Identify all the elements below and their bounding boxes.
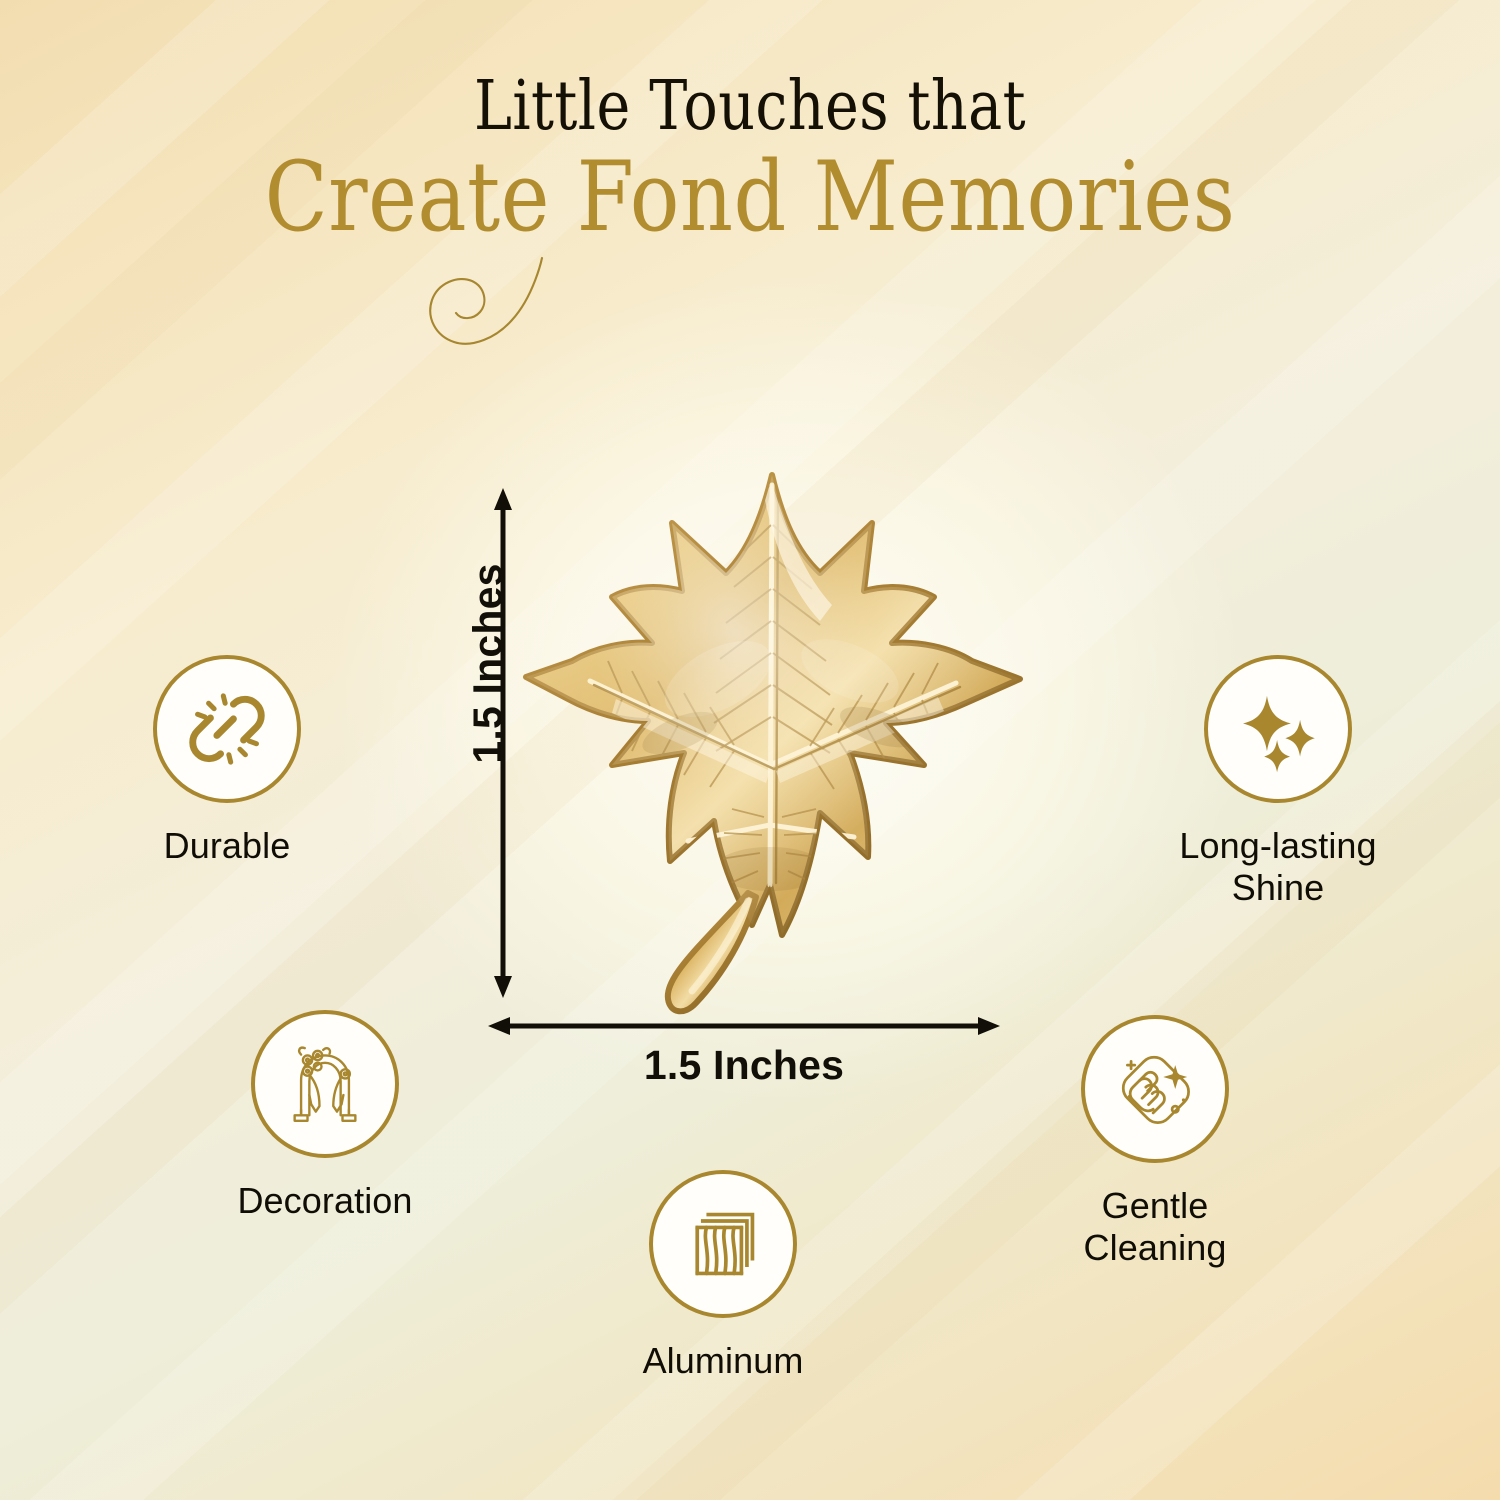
- gold-maple-leaf-icon: [520, 465, 1030, 1020]
- feature-long-lasting-shine[interactable]: Long-lasting Shine: [1148, 655, 1408, 909]
- feature-label: Aluminum: [643, 1340, 804, 1382]
- headline-line-1: Little Touches that: [120, 72, 1380, 143]
- feature-label: Long-lasting Shine: [1179, 825, 1376, 909]
- feature-icon-circle: [649, 1170, 797, 1318]
- feature-label: Decoration: [237, 1180, 412, 1222]
- dimension-label-height: 1.5 Inches: [465, 559, 512, 769]
- feature-gentle-cleaning[interactable]: Gentle Cleaning: [1030, 1015, 1280, 1269]
- floral-arch-icon: [279, 1038, 371, 1130]
- product-image: [520, 465, 1030, 1020]
- metal-sheet-icon: [677, 1198, 769, 1290]
- chain-link-icon: [181, 683, 273, 775]
- spiral-flourish-icon: [392, 256, 592, 416]
- feature-decoration[interactable]: Decoration: [200, 1010, 450, 1222]
- feature-icon-circle: [153, 655, 301, 803]
- headline-block: Little Touches that Create Fond Memories: [0, 72, 1500, 247]
- sparkle-stars-icon: [1232, 683, 1324, 775]
- hand-wipe-icon: [1109, 1043, 1201, 1135]
- headline-line-2: Create Fond Memories: [105, 149, 1395, 247]
- dimension-arrow-horizontal: [488, 1006, 1000, 1046]
- dimension-label-width: 1.5 Inches: [488, 1042, 1000, 1089]
- feature-icon-circle: [251, 1010, 399, 1158]
- feature-aluminum[interactable]: Aluminum: [598, 1170, 848, 1382]
- feature-label: Durable: [164, 825, 291, 867]
- feature-icon-circle: [1204, 655, 1352, 803]
- feature-durable[interactable]: Durable: [102, 655, 352, 867]
- infographic-canvas: Little Touches that Create Fond Memories: [0, 0, 1500, 1500]
- feature-icon-circle: [1081, 1015, 1229, 1163]
- feature-label: Gentle Cleaning: [1084, 1185, 1227, 1269]
